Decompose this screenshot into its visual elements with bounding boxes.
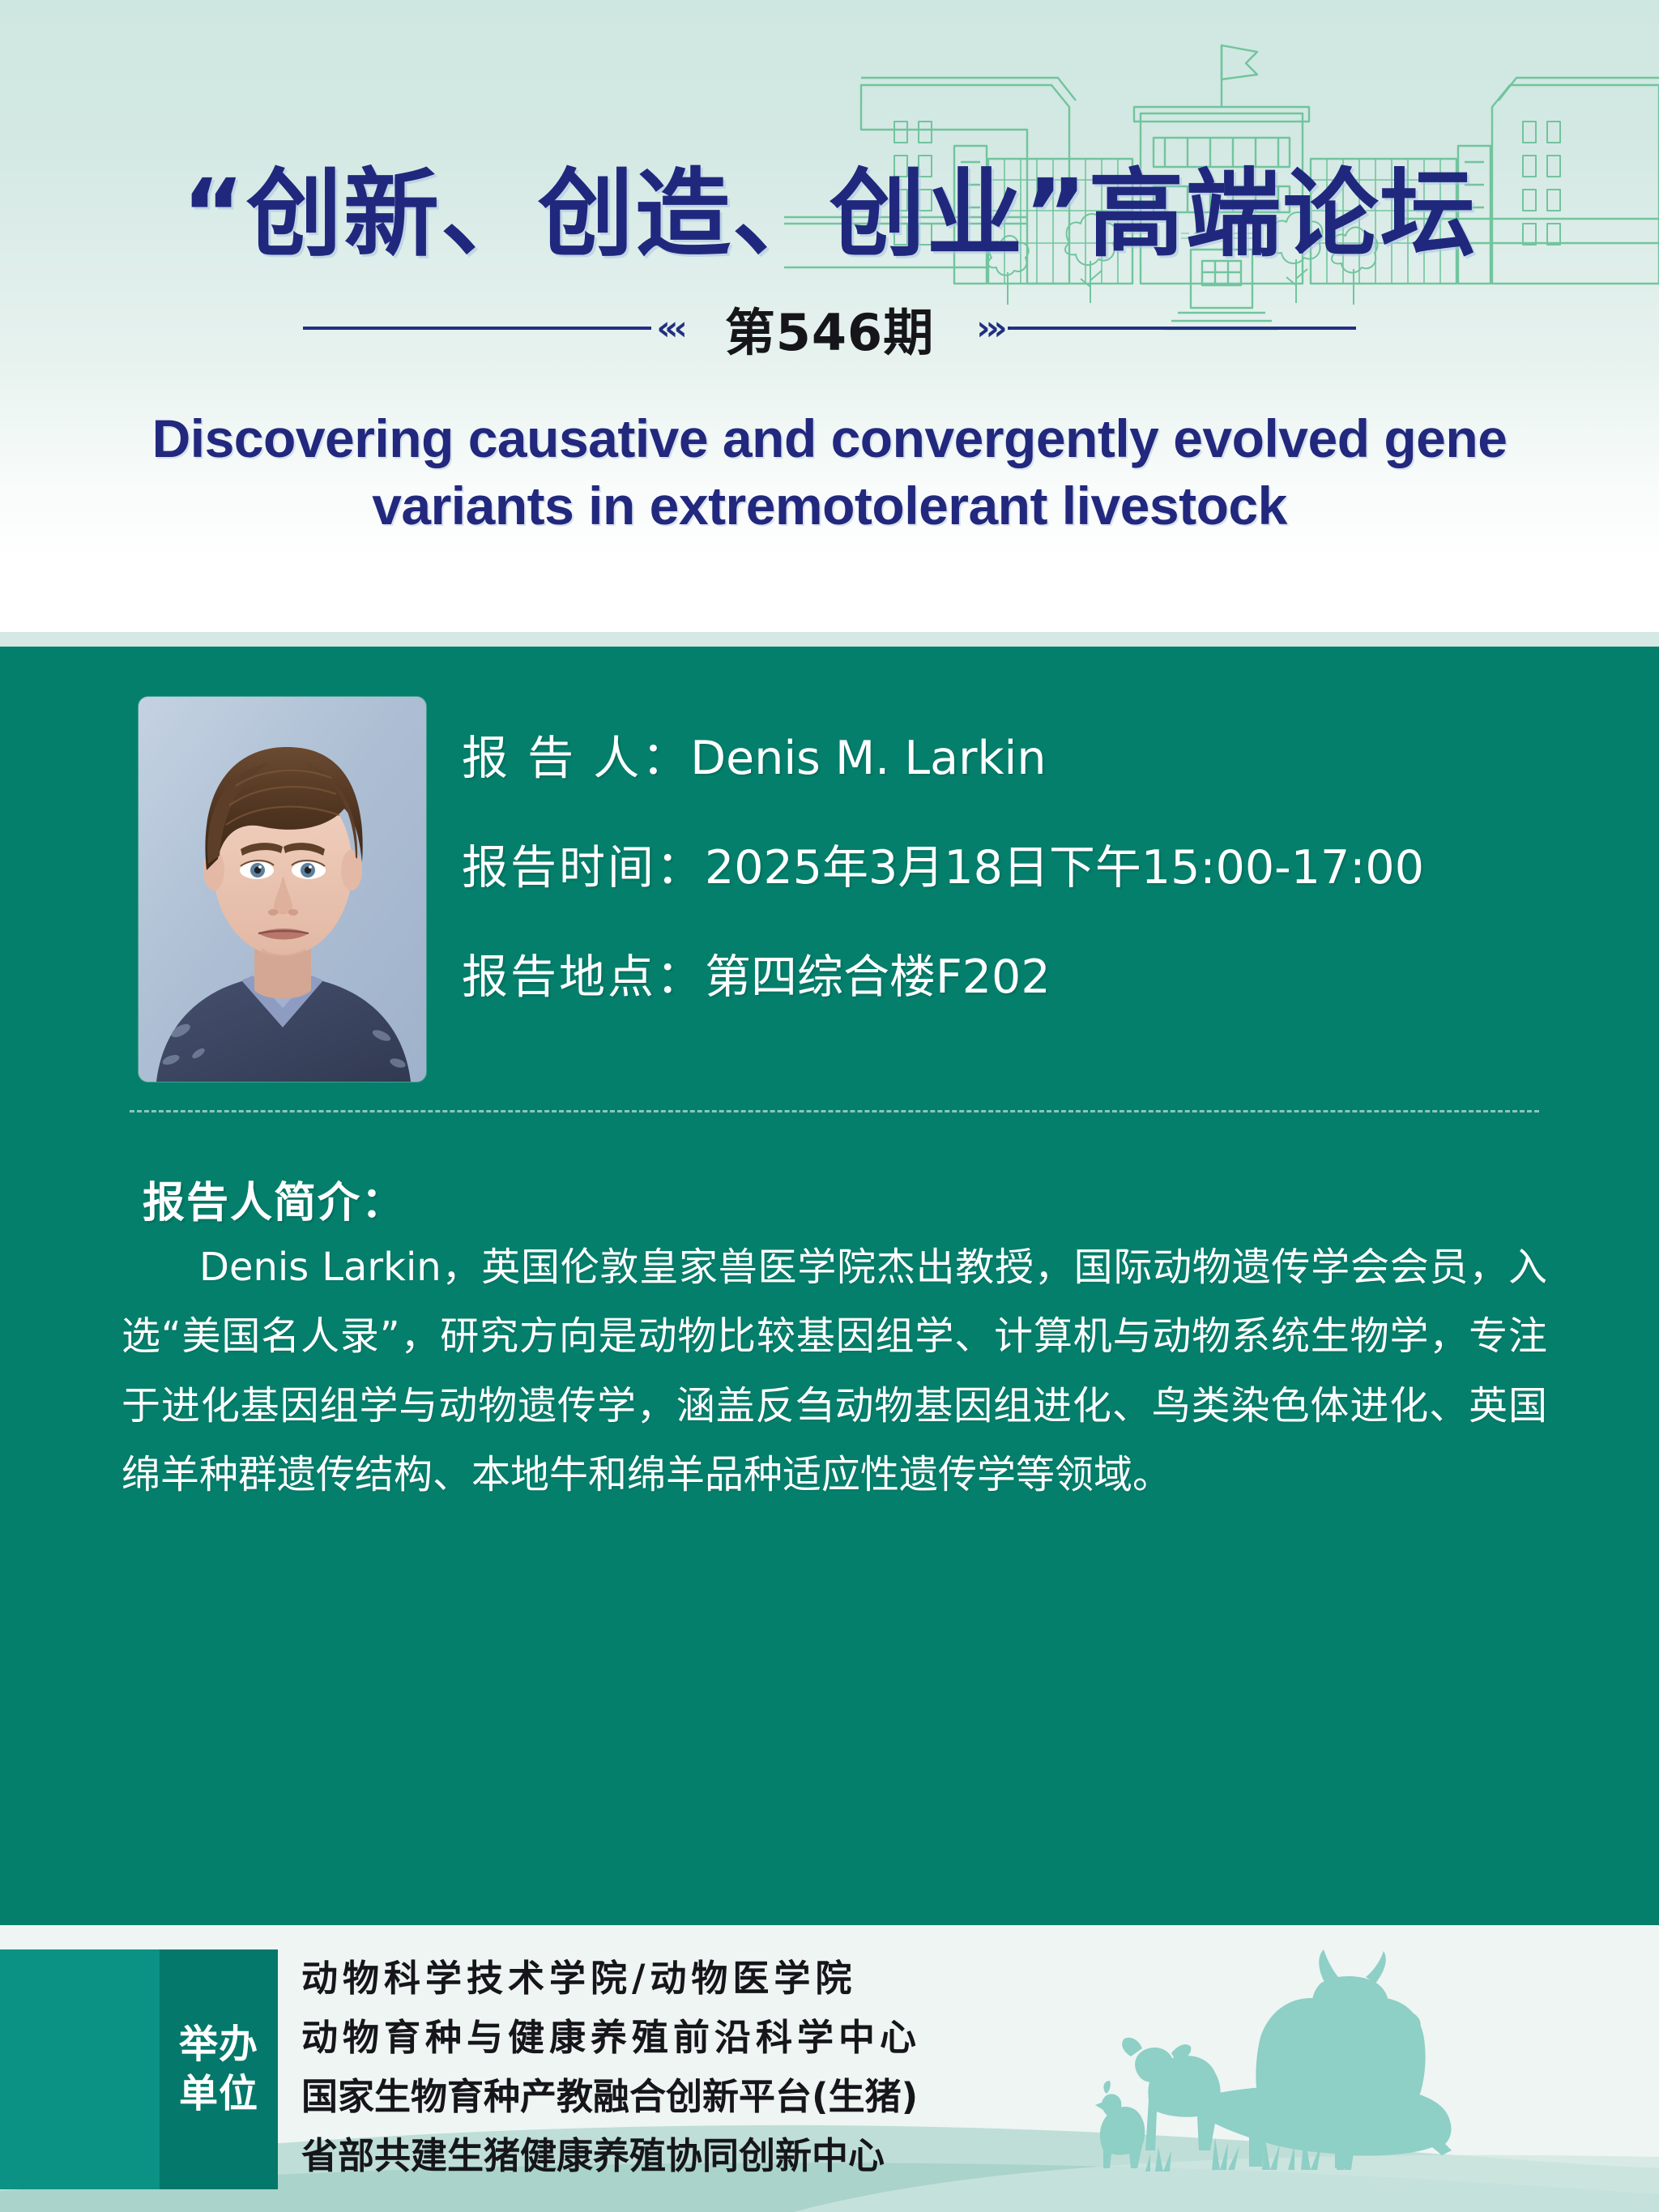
lecture-title-en: Discovering causative and convergently e…	[89, 405, 1570, 540]
speaker-portrait	[139, 697, 426, 1082]
bio-heading: 报告人简介：	[143, 1168, 405, 1229]
organizer-badge: 举办 单位	[160, 1949, 278, 2189]
section-divider	[130, 1110, 1539, 1112]
poster-header: “创新、创造、创业”高端论坛 «‹ 第546期 ›»	[0, 0, 1659, 381]
seminar-poster: “创新、创造、创业”高端论坛 «‹ 第546期 ›» Discovering c…	[0, 0, 1659, 2212]
meta-row-venue: 报告地点：第四综合楼F202	[462, 954, 1596, 1001]
issue-rule-right	[1008, 327, 1356, 330]
band-separator	[0, 632, 1659, 647]
chevron-left-icon: «‹	[651, 311, 687, 345]
organizer-badge-line1: 举办	[179, 2020, 258, 2069]
meta-value-venue: 第四综合楼F202	[705, 950, 1051, 1004]
issue-rule-left	[303, 327, 651, 330]
footer-accent-bar	[0, 1949, 160, 2189]
farm-animals-silhouette	[1068, 1933, 1635, 2212]
organizer-item-3: 国家生物育种产教融合创新平台(生猪)	[301, 2068, 1030, 2127]
speaker-meta: 报 告 人：Denis M. Larkin 报告时间：2025年3月18日下午1…	[462, 736, 1596, 1064]
poster-body: 报 告 人：Denis M. Larkin 报告时间：2025年3月18日下午1…	[0, 647, 1659, 1925]
poster-footer: 举办 单位 动物科学技术学院/动物医学院 动物育种与健康养殖前沿科学中心 国家生…	[0, 1925, 1659, 2212]
issue-number: 第546期	[688, 292, 971, 365]
bio-text: Denis Larkin，英国伦敦皇家兽医学院杰出教授，国际动物遗传学会会员，入…	[122, 1233, 1547, 1510]
organizer-item-1: 动物科学技术学院/动物医学院	[301, 1949, 1030, 2009]
organizer-item-2: 动物育种与健康养殖前沿科学中心	[301, 2009, 1030, 2068]
title-band: Discovering causative and convergently e…	[0, 381, 1659, 632]
meta-value-time: 2025年3月18日下午15:00-17:00	[705, 841, 1424, 895]
meta-label-venue: 报告地点：	[462, 950, 705, 1004]
organizer-badge-line2: 单位	[179, 2069, 258, 2119]
meta-row-time: 报告时间：2025年3月18日下午15:00-17:00	[462, 845, 1596, 891]
meta-value-speaker: Denis M. Larkin	[690, 732, 1046, 785]
forum-title: “创新、创造、创业”高端论坛	[0, 136, 1659, 275]
issue-row: «‹ 第546期 ›»	[0, 300, 1659, 357]
meta-label-speaker: 报 告 人：	[462, 732, 690, 785]
meta-row-speaker: 报 告 人：Denis M. Larkin	[462, 736, 1596, 782]
organizer-list: 动物科学技术学院/动物医学院 动物育种与健康养殖前沿科学中心 国家生物育种产教融…	[301, 1949, 1030, 2186]
meta-label-time: 报告时间：	[462, 841, 705, 895]
organizer-item-4: 省部共建生猪健康养殖协同创新中心	[301, 2127, 1030, 2186]
chevron-right-icon: ›»	[971, 311, 1007, 345]
